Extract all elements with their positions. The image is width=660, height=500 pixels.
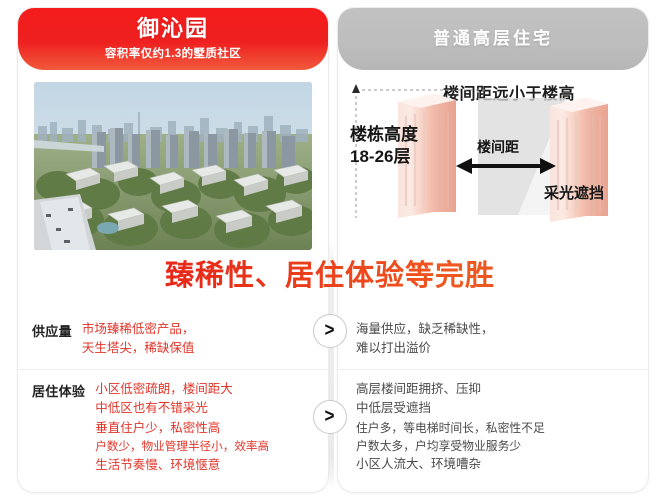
line: 住户多，等电梯时间长，私密性不足 bbox=[356, 419, 634, 437]
row-label-supply: 供应量 bbox=[32, 320, 72, 340]
line: 小区人流大、环境嘈杂 bbox=[356, 455, 634, 474]
row-text-living-left: 小区低密疏朗，楼间距大 中低区也有不错采光 垂直住户少，私密性高 户数少，物业管… bbox=[95, 380, 314, 475]
line: 高层楼间距拥挤、压抑 bbox=[356, 380, 634, 399]
right-banner-title: 普通高层住宅 bbox=[433, 30, 553, 48]
row-living-left: 居住体验 小区低密疏朗，楼间距大 中低区也有不错采光 垂直住户少，私密性高 户数… bbox=[18, 369, 328, 485]
line: 小区低密疏朗，楼间距大 bbox=[95, 380, 314, 399]
line: 海量供应，缺乏稀缺性， bbox=[356, 320, 634, 339]
row-supply-left: 供应量 市场臻稀低密产品， 天生塔尖，稀缺保值 bbox=[18, 310, 328, 369]
left-banner: 御沁园 容积率仅约1.3的墅质社区 bbox=[18, 8, 328, 70]
diagram-svg: 楼栋高度 18-26层 楼间距 采光遮挡 bbox=[338, 70, 648, 252]
photo-illustration bbox=[34, 82, 312, 250]
line: 中低层受遮挡 bbox=[356, 399, 634, 418]
aerial-community-photo bbox=[34, 82, 312, 250]
chevron-right-living[interactable]: > bbox=[313, 400, 347, 434]
page-headline: 臻稀性、居住体验等完胜 bbox=[0, 252, 660, 294]
left-project-card: 御沁园 容积率仅约1.3的墅质社区 bbox=[18, 8, 328, 492]
chevron-right-icon: > bbox=[325, 321, 335, 340]
row-living-right: 高层楼间距拥挤、压抑 中低层受遮挡 住户多，等电梯时间长，私密性不足 户数太多，… bbox=[338, 369, 648, 485]
right-reference-card: 普通高层住宅 楼间距远小于楼高 bbox=[338, 8, 648, 492]
height-arrow-head bbox=[352, 84, 360, 93]
height-label-line2: 18-26层 bbox=[350, 147, 410, 166]
row-supply-right: 海量供应，缺乏稀缺性， 难以打出溢价 bbox=[338, 310, 648, 369]
gap-label: 楼间距 bbox=[477, 139, 519, 155]
row-text-supply-right: 海量供应，缺乏稀缺性， 难以打出溢价 bbox=[356, 320, 634, 359]
line: 中低区也有不错采光 bbox=[95, 399, 314, 418]
right-banner: 普通高层住宅 bbox=[338, 8, 648, 70]
chevron-right-icon: > bbox=[325, 407, 335, 426]
left-banner-subtitle: 容积率仅约1.3的墅质社区 bbox=[105, 45, 241, 61]
line: 天生塔尖，稀缺保值 bbox=[82, 339, 314, 358]
height-label-line1: 楼栋高度 bbox=[350, 124, 419, 144]
line: 垂直住户少，私密性高 bbox=[95, 419, 314, 438]
line: 户数太多，户均享受物业服务少 bbox=[356, 437, 634, 455]
line: 户数少，物业管理半径小，效率高 bbox=[95, 438, 314, 456]
row-label-living: 居住体验 bbox=[32, 380, 85, 400]
right-comparison-rows: 海量供应，缺乏稀缺性， 难以打出溢价 高层楼间距拥挤、压抑 中低层受遮挡 住户多… bbox=[338, 310, 648, 484]
row-text-living-right: 高层楼间距拥挤、压抑 中低层受遮挡 住户多，等电梯时间长，私密性不足 户数太多，… bbox=[356, 380, 634, 475]
highrise-spacing-diagram: 楼间距远小于楼高 bbox=[338, 70, 648, 252]
line: 生活节奏慢、环境惬意 bbox=[95, 456, 314, 475]
left-banner-title: 御沁园 bbox=[137, 17, 209, 40]
shade-label: 采光遮挡 bbox=[543, 184, 604, 202]
chevron-right-supply[interactable]: > bbox=[313, 314, 347, 348]
row-text-supply-left: 市场臻稀低密产品， 天生塔尖，稀缺保值 bbox=[82, 320, 314, 359]
comparison-infographic: 御沁园 容积率仅约1.3的墅质社区 bbox=[0, 0, 660, 500]
line: 市场臻稀低密产品， bbox=[82, 320, 314, 339]
building-right bbox=[550, 98, 608, 222]
line: 难以打出溢价 bbox=[356, 339, 634, 358]
left-comparison-rows: 供应量 市场臻稀低密产品， 天生塔尖，稀缺保值 居住体验 小区低密疏朗，楼间距大… bbox=[18, 310, 328, 485]
